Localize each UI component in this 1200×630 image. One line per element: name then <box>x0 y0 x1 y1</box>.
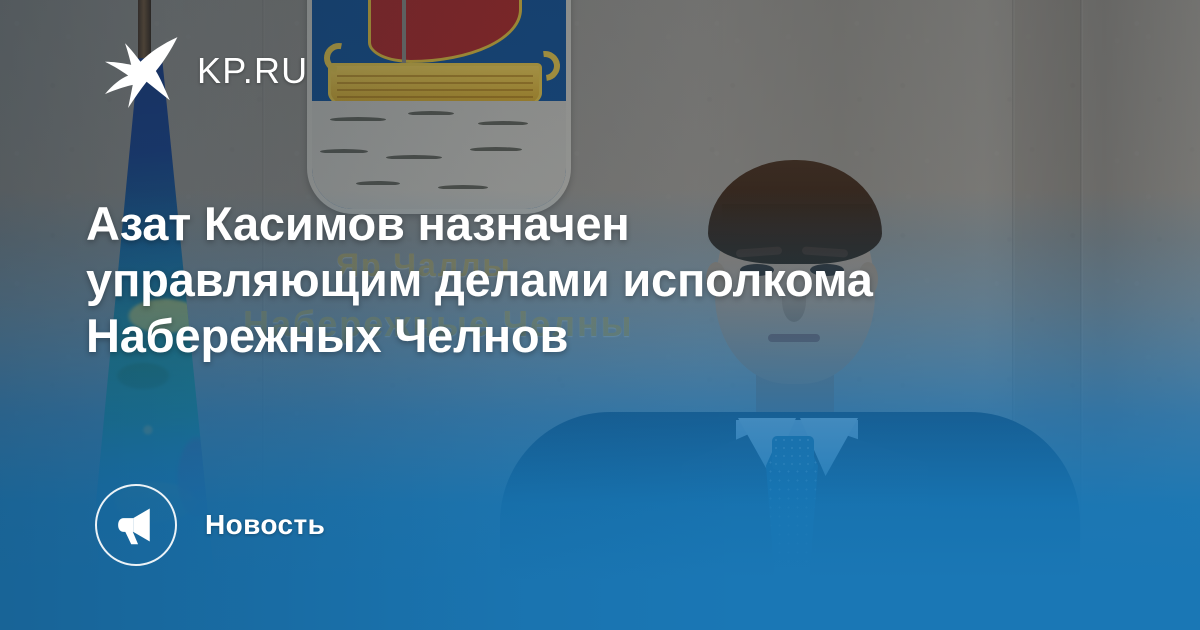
megaphone-icon <box>114 503 158 547</box>
headline-line-1: Азат Касимов назначен <box>86 196 1096 252</box>
badge-circle <box>95 484 177 566</box>
badge-label: Новость <box>205 509 325 541</box>
swallow-bird-icon <box>103 34 181 108</box>
brand-logo[interactable]: KP.RU <box>103 34 308 108</box>
news-share-card: Яр Чаллы Набережные Челны <box>0 0 1200 630</box>
card-content: KP.RU Азат Касимов назначен управляющим … <box>0 0 1200 630</box>
headline-line-2: управляющим делами исполкома <box>86 252 1096 308</box>
brand-wordmark: KP.RU <box>197 53 308 89</box>
category-badge[interactable]: Новость <box>95 484 325 566</box>
page-title: Азат Касимов назначен управляющим делами… <box>86 196 1096 364</box>
headline-line-3: Набережных Челнов <box>86 308 1096 364</box>
